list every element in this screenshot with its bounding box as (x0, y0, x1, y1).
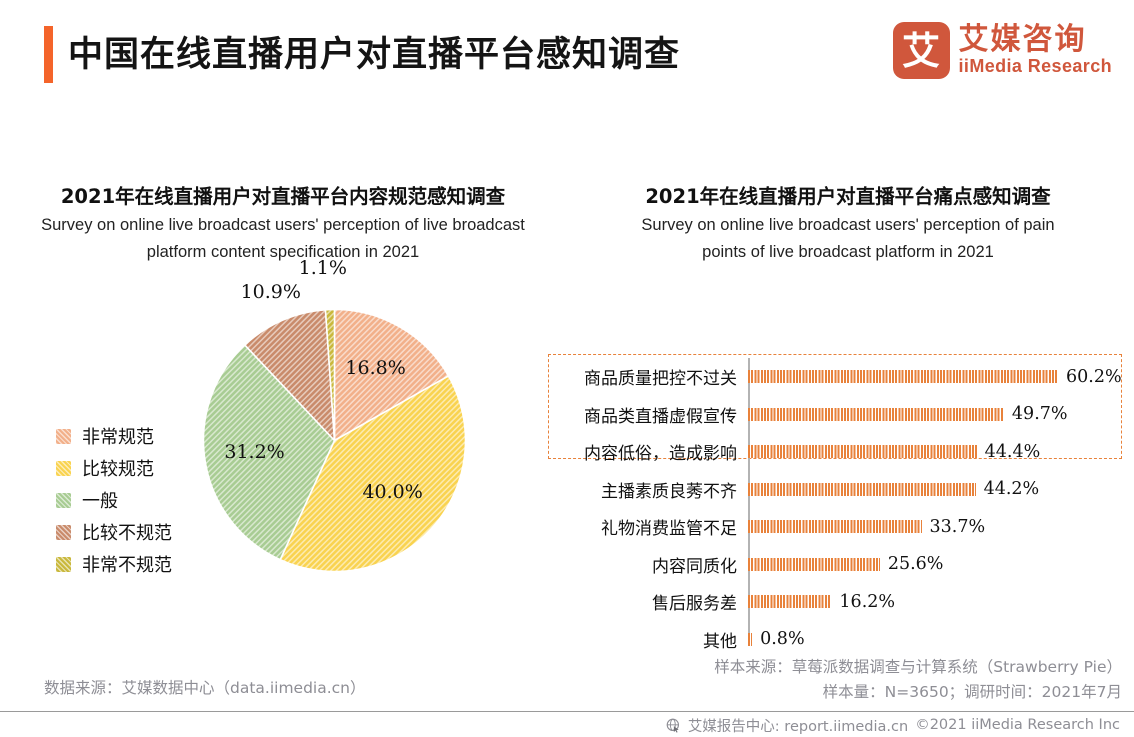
bar (748, 408, 1004, 421)
bar-value-label: 25.6% (888, 554, 944, 574)
pie-chart-subtitle-line1: Survey on online live broadcast users' p… (8, 212, 558, 239)
legend-swatch-icon (56, 557, 71, 572)
logo-mark-icon: 艾 (893, 22, 950, 79)
page-header: 中国在线直播用户对直播平台感知调查 艾 艾媒咨询 iiMedia Researc… (0, 0, 1134, 115)
legend-swatch-icon (56, 493, 71, 508)
pie-legend-item[interactable]: 比较规范 (56, 452, 172, 484)
bar-category-label: 售后服务差 (572, 589, 748, 614)
pie-chart-title: 2021年在线直播用户对直播平台内容规范感知调查 (8, 182, 558, 212)
bar-row: 商品质量把控不过关60.2% (572, 358, 1124, 396)
legend-label: 比较规范 (82, 455, 154, 481)
legend-swatch-icon (56, 429, 71, 444)
pie-chart-subtitle-line2: platform content specification in 2021 (8, 239, 558, 266)
legend-label: 非常不规范 (82, 551, 172, 577)
bar-value-label: 60.2% (1066, 367, 1122, 387)
bar-category-label: 商品类直播虚假宣传 (572, 402, 748, 427)
bar-row: 其他0.8% (572, 621, 1124, 659)
bar-row: 内容同质化25.6% (572, 546, 1124, 584)
legend-label: 比较不规范 (82, 519, 172, 545)
legend-swatch-icon (56, 525, 71, 540)
pie-slice-label: 1.1% (299, 257, 347, 279)
bar-row: 商品类直播虚假宣传49.7% (572, 396, 1124, 434)
bar-value-label: 44.4% (985, 442, 1041, 462)
pie-legend-item[interactable]: 比较不规范 (56, 516, 172, 548)
bar-value-label: 16.2% (839, 592, 895, 612)
sample-source: 样本来源：草莓派数据调查与计算系统（Strawberry Pie） (714, 655, 1122, 680)
pie-legend: 非常规范比较规范一般比较不规范非常不规范 (56, 420, 172, 580)
bar-category-label: 内容低俗，造成影响 (572, 439, 748, 464)
bar-value-label: 49.7% (1012, 404, 1068, 424)
bar-chart-title: 2021年在线直播用户对直播平台痛点感知调查 (572, 182, 1124, 212)
legend-label: 一般 (82, 487, 118, 513)
bar (748, 445, 977, 458)
bar-chart-subtitle-line2: points of live broadcast platform in 202… (572, 239, 1124, 266)
pie-slice-label: 10.9% (241, 281, 301, 303)
bar-track: 25.6% (748, 546, 1124, 584)
logo-name-cn: 艾媒咨询 (959, 24, 1112, 56)
bar (748, 633, 752, 646)
bar-category-label: 主播素质良莠不齐 (572, 477, 748, 502)
source-left: 数据来源：艾媒数据中心（data.iimedia.cn） (44, 676, 366, 698)
bar-row: 主播素质良莠不齐44.2% (572, 471, 1124, 509)
bar-chart-subtitle-line1: Survey on online live broadcast users' p… (572, 212, 1124, 239)
page-title: 中国在线直播用户对直播平台感知调查 (68, 27, 680, 83)
pie-chart-area: 非常规范比较规范一般比较不规范非常不规范 16.8%40.0%31.2%10.9… (8, 272, 558, 602)
globe-icon (666, 718, 681, 733)
bar-track: 44.4% (748, 433, 1124, 471)
bar (748, 520, 922, 533)
pie-slice-label: 40.0% (362, 481, 422, 503)
bar-value-label: 44.2% (984, 479, 1040, 499)
copyright-text: ©2021 iiMedia Research Inc (915, 717, 1120, 733)
bar-value-label: 0.8% (760, 629, 804, 649)
bar-category-label: 其他 (572, 627, 748, 652)
logo-text: 艾媒咨询 iiMedia Research (959, 24, 1112, 77)
bar (748, 483, 976, 496)
legend-swatch-icon (56, 461, 71, 476)
legend-label: 非常规范 (82, 423, 154, 449)
bar (748, 595, 831, 608)
bar-track: 0.8% (748, 621, 1124, 659)
pie-slice-label: 31.2% (224, 441, 284, 463)
bar-category-label: 商品质量把控不过关 (572, 364, 748, 389)
bar-track: 16.2% (748, 583, 1124, 621)
source-right: 样本来源：草莓派数据调查与计算系统（Strawberry Pie） 样本量：N=… (714, 655, 1122, 705)
bar-chart-area: 商品质量把控不过关60.2%商品类直播虚假宣传49.7%内容低俗，造成影响44.… (572, 276, 1124, 606)
logo-name-en: iiMedia Research (959, 56, 1112, 77)
pie-legend-item[interactable]: 非常规范 (56, 420, 172, 452)
brand-logo: 艾 艾媒咨询 iiMedia Research (893, 22, 1112, 79)
pie-slice-label: 16.8% (345, 357, 405, 379)
pie-legend-item[interactable]: 一般 (56, 484, 172, 516)
bar-row: 礼物消费监管不足33.7% (572, 508, 1124, 546)
bar-track: 60.2% (748, 358, 1124, 396)
logo-mark-char: 艾 (902, 32, 940, 70)
bar-row: 内容低俗，造成影响44.4% (572, 433, 1124, 471)
bar-row: 售后服务差16.2% (572, 583, 1124, 621)
report-center-link[interactable]: 艾媒报告中心: report.iimedia.cn (688, 715, 908, 736)
footer-bar: 艾媒报告中心: report.iimedia.cn ©2021 iiMedia … (0, 713, 1134, 737)
bar-rows: 商品质量把控不过关60.2%商品类直播虚假宣传49.7%内容低俗，造成影响44.… (572, 358, 1124, 658)
bar-track: 44.2% (748, 471, 1124, 509)
bar-track: 49.7% (748, 396, 1124, 434)
bar-category-label: 内容同质化 (572, 552, 748, 577)
sample-size: 样本量：N=3650；调研时间：2021年7月 (714, 680, 1122, 705)
bar-value-label: 33.7% (930, 517, 986, 537)
title-accent-bar (44, 26, 53, 83)
bar-category-label: 礼物消费监管不足 (572, 514, 748, 539)
pie-chart-panel: 2021年在线直播用户对直播平台内容规范感知调查 Survey on onlin… (8, 182, 558, 602)
bar-track: 33.7% (748, 508, 1124, 546)
pie-legend-item[interactable]: 非常不规范 (56, 548, 172, 580)
bar (748, 558, 880, 571)
bar (748, 370, 1058, 383)
bar-chart-panel: 2021年在线直播用户对直播平台痛点感知调查 Survey on online … (572, 182, 1124, 606)
